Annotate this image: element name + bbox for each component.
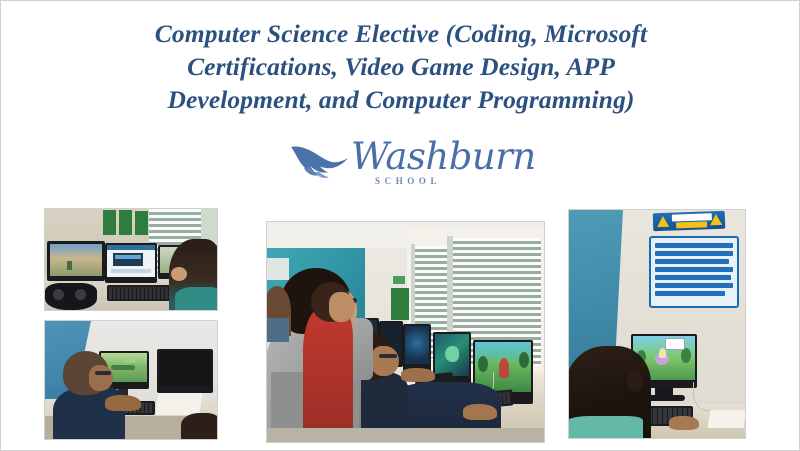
photo-top-left — [45, 209, 217, 310]
title-line-3: Development, and Computer Programming) — [59, 83, 743, 116]
photo-top-left-scene — [45, 209, 217, 310]
photo-right — [569, 210, 745, 438]
logo-subtext: SCHOOL — [375, 176, 441, 186]
logo-wordmark: Washburn — [351, 135, 536, 179]
photo-bottom-left-scene — [45, 321, 217, 439]
photo-center-scene — [267, 222, 544, 442]
warning-triangle-icon — [657, 216, 669, 227]
internet-safety-poster — [649, 236, 739, 308]
photo-center — [267, 222, 544, 442]
presentation-slide: Computer Science Elective (Coding, Micro… — [0, 0, 800, 451]
title-line-1: Computer Science Elective (Coding, Micro… — [59, 17, 743, 50]
title-line-2: Certifications, Video Game Design, APP — [59, 50, 743, 83]
page-title: Computer Science Elective (Coding, Micro… — [59, 17, 743, 116]
photo-right-scene — [569, 210, 745, 438]
photo-bottom-left — [45, 321, 217, 439]
school-logo: Washburn SCHOOL — [289, 135, 489, 197]
